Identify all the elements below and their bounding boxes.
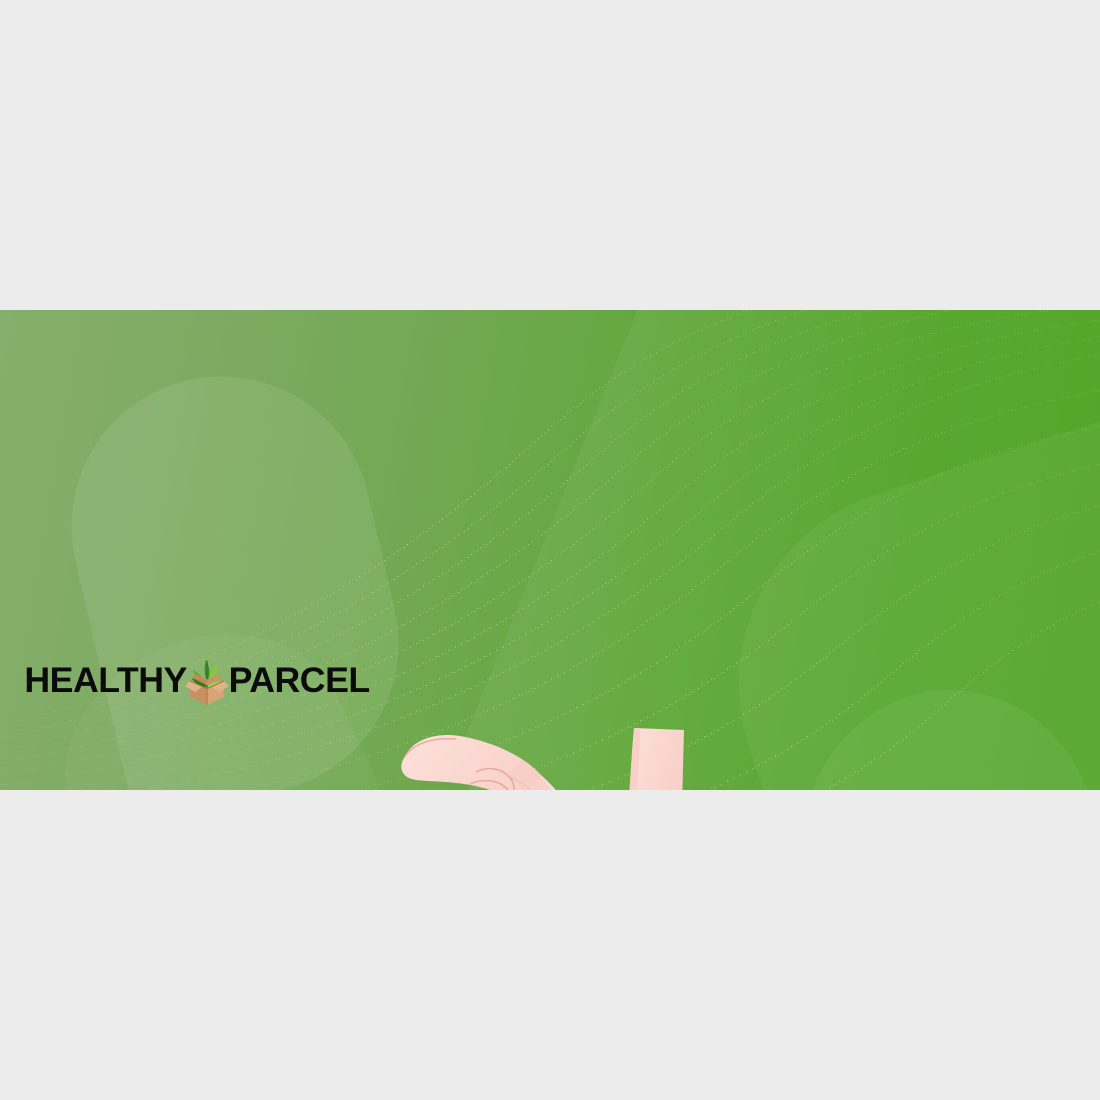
article-hero-banner: HEALTHY — [0, 310, 1100, 790]
open-box-with-leaves-icon — [180, 654, 234, 708]
hand-pressing-swollen-foot-illustration — [390, 710, 730, 790]
decor-wedge-b — [687, 395, 1100, 790]
hand-shape — [401, 735, 591, 790]
site-logo[interactable]: HEALTHY — [26, 657, 369, 703]
page-root: HEALTHY — [0, 0, 1100, 1100]
logo-word-healthy: HEALTHY — [24, 663, 186, 698]
logo-word-parcel: PARCEL — [229, 663, 370, 698]
decor-pill-shape — [42, 347, 429, 790]
decor-right-blob — [800, 690, 1100, 790]
